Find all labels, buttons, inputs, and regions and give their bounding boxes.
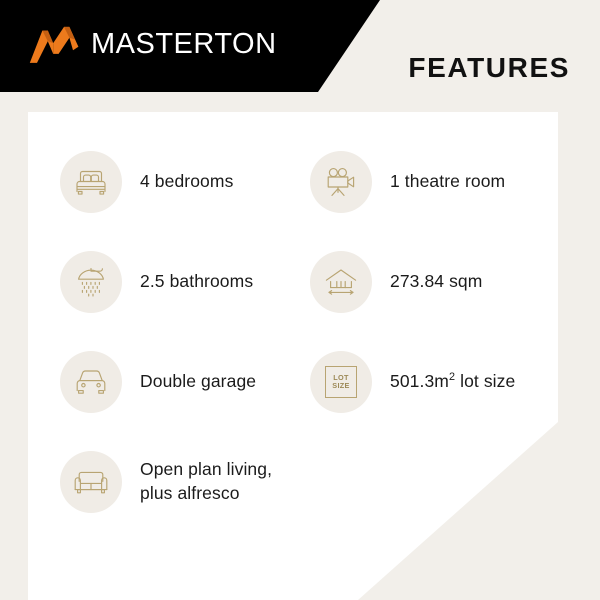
feature-label: 4 bedrooms xyxy=(140,170,233,194)
movie-camera-icon xyxy=(310,151,372,213)
page-header: MASTERTON FEATURES xyxy=(0,0,600,92)
sofa-icon xyxy=(60,451,122,513)
feature-bathrooms: 2.5 bathrooms xyxy=(60,251,253,313)
lot-size-box: LOT SIZE xyxy=(325,366,357,398)
feature-label: 273.84 sqm xyxy=(390,270,482,294)
lot-size-icon: LOT SIZE xyxy=(310,351,372,413)
feature-open-plan-living: Open plan living, plus alfresco xyxy=(60,451,272,513)
feature-theatre-room: 1 theatre room xyxy=(310,151,505,213)
car-icon xyxy=(60,351,122,413)
features-infographic: MASTERTON FEATURES xyxy=(0,0,600,600)
feature-label: 1 theatre room xyxy=(390,170,505,194)
lot-size-suffix: lot size xyxy=(455,371,515,391)
feature-lot-size: LOT SIZE 501.3m2 lot size xyxy=(310,351,515,413)
brand-logo: MASTERTON xyxy=(28,16,277,72)
feature-floor-area: 273.84 sqm xyxy=(310,251,482,313)
feature-label: Open plan living, plus alfresco xyxy=(140,458,272,505)
lot-size-value: 501.3m xyxy=(390,371,449,391)
brand-name: MASTERTON xyxy=(91,30,277,59)
feature-label: 501.3m2 lot size xyxy=(390,370,515,394)
features-grid: 4 bedrooms xyxy=(28,112,558,600)
lot-size-box-line-2: SIZE xyxy=(332,382,349,390)
feature-bedrooms: 4 bedrooms xyxy=(60,151,233,213)
feature-label: Double garage xyxy=(140,370,256,394)
shower-icon xyxy=(60,251,122,313)
bed-icon xyxy=(60,151,122,213)
features-card: 4 bedrooms xyxy=(28,112,558,600)
feature-garage: Double garage xyxy=(60,351,256,413)
house-area-icon xyxy=(310,251,372,313)
page-title: FEATURES xyxy=(408,52,570,84)
feature-label: 2.5 bathrooms xyxy=(140,270,253,294)
masterton-m-logo-icon xyxy=(28,23,82,65)
